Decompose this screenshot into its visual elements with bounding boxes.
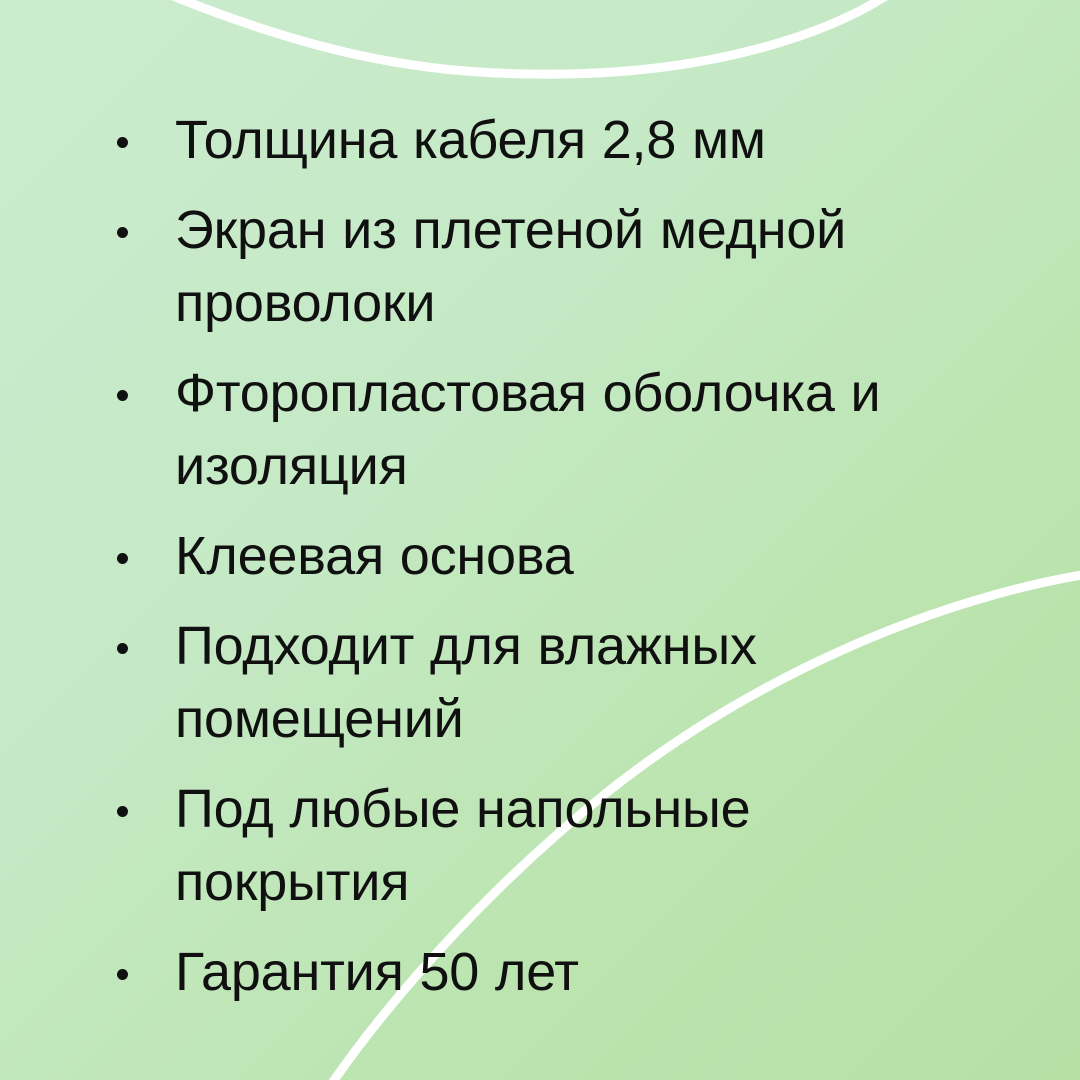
bullet-icon [117, 390, 128, 401]
bullet-icon [117, 553, 128, 564]
bullet-icon [117, 137, 128, 148]
bullet-icon [117, 806, 128, 817]
list-item: Фторопластовая оболочка и изоляция [104, 357, 984, 503]
feature-text: Гарантия 50 лет [175, 936, 984, 1009]
feature-list-slide: Толщина кабеля 2,8 мм Экран из плетеной … [0, 0, 1080, 1080]
feature-text: Клеевая основа [175, 520, 984, 593]
bullet-icon [117, 227, 128, 238]
list-item: Под любые напольные покрытия [104, 773, 984, 919]
feature-text: Фторопластовая оболочка и изоляция [175, 357, 984, 503]
feature-text: Экран из плетеной медной проволоки [175, 194, 984, 340]
feature-text: Подходит для влажных помещений [175, 610, 984, 756]
list-item: Подходит для влажных помещений [104, 610, 984, 756]
list-item: Экран из плетеной медной проволоки [104, 194, 984, 340]
bullet-icon [117, 969, 128, 980]
bullet-icon [117, 643, 128, 654]
feature-text: Толщина кабеля 2,8 мм [175, 104, 984, 177]
list-item: Толщина кабеля 2,8 мм [104, 104, 984, 177]
feature-list: Толщина кабеля 2,8 мм Экран из плетеной … [104, 104, 984, 1009]
list-item: Гарантия 50 лет [104, 936, 984, 1009]
feature-text: Под любые напольные покрытия [175, 773, 984, 919]
top-curve-icon [168, 0, 892, 74]
list-item: Клеевая основа [104, 520, 984, 593]
